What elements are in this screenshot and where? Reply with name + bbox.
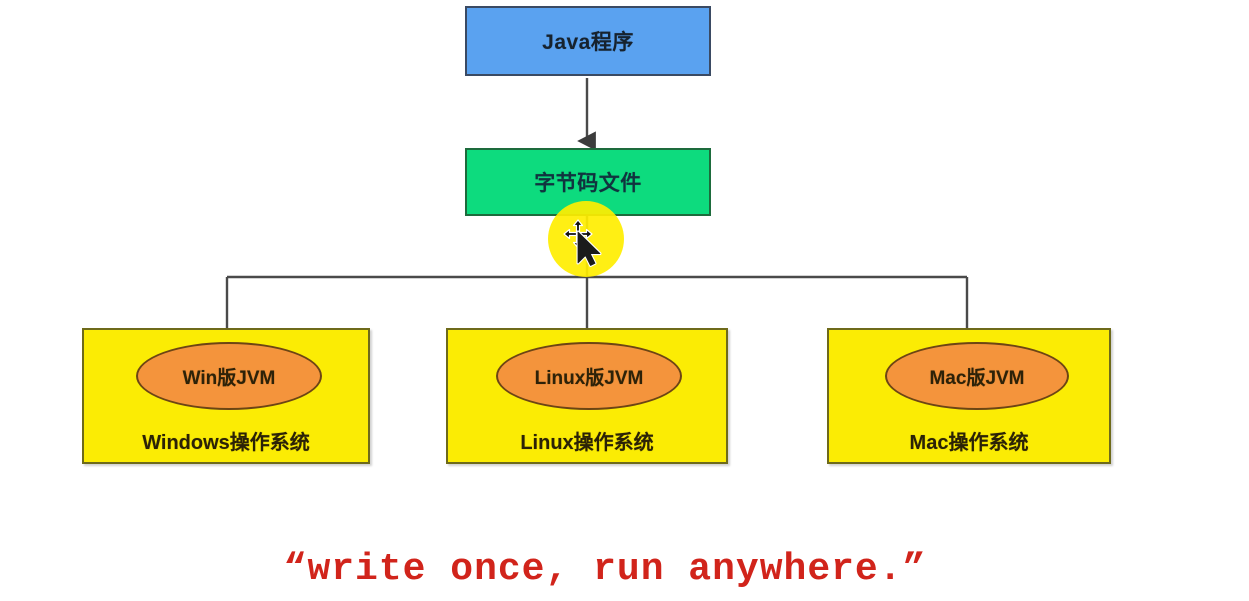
jvm-label-windows: Win版JVM [183, 363, 276, 390]
platform-box-mac[interactable]: Mac版JVM Mac操作系统 [827, 328, 1111, 464]
diagram-canvas: Java程序 字节码文件 Win版JVM Windows操作系统 Linux版J… [0, 0, 1249, 601]
jvm-ellipse-linux[interactable]: Linux版JVM [496, 342, 682, 410]
caption-write-once-run-anywhere: “write once, run anywhere.” [0, 548, 1210, 591]
os-label-windows: Windows操作系统 [84, 426, 368, 455]
os-label-mac: Mac操作系统 [829, 426, 1109, 455]
connector-lines [0, 0, 1249, 601]
os-label-linux: Linux操作系统 [448, 426, 726, 455]
move-cursor [563, 219, 609, 267]
node-bytecode-file-label: 字节码文件 [534, 167, 642, 197]
jvm-ellipse-windows[interactable]: Win版JVM [136, 342, 322, 410]
node-java-program-label: Java程序 [542, 26, 634, 56]
jvm-label-linux: Linux版JVM [535, 363, 644, 390]
jvm-label-mac: Mac版JVM [929, 363, 1024, 390]
platform-box-windows[interactable]: Win版JVM Windows操作系统 [82, 328, 370, 464]
jvm-ellipse-mac[interactable]: Mac版JVM [885, 342, 1069, 410]
platform-box-linux[interactable]: Linux版JVM Linux操作系统 [446, 328, 728, 464]
node-java-program[interactable]: Java程序 [465, 6, 711, 76]
